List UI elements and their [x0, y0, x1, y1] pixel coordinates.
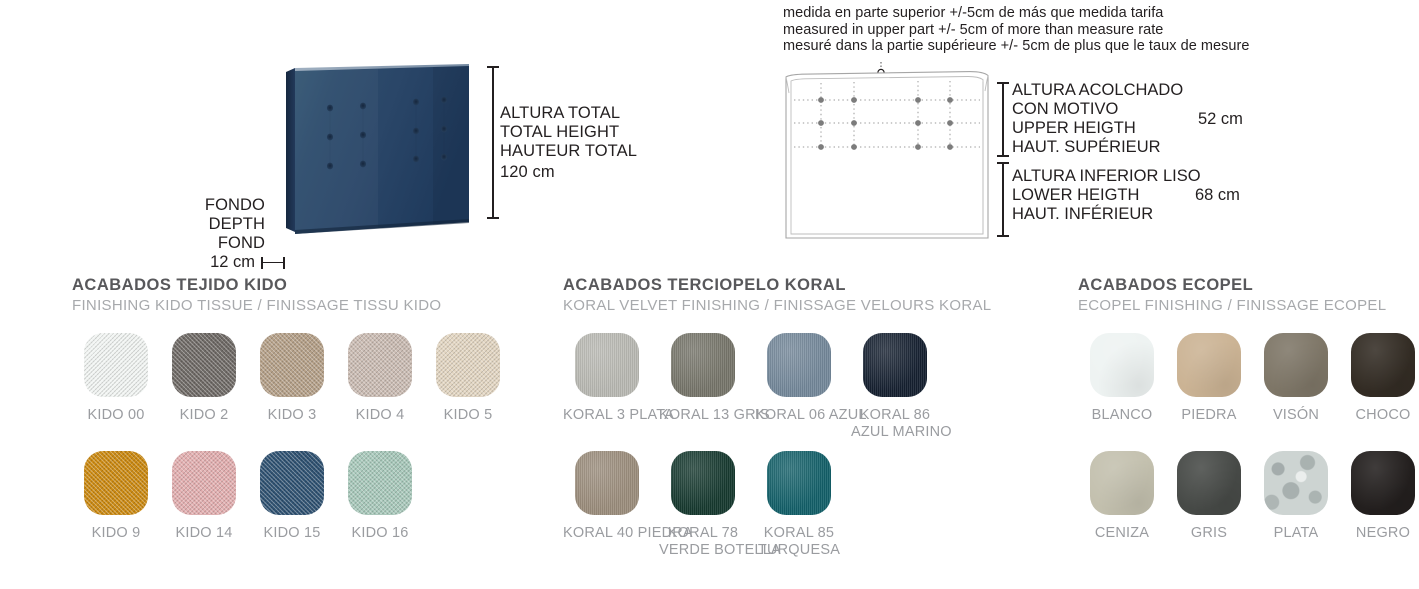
swatch-label: NEGRO: [1339, 525, 1419, 542]
swatch-label: GRIS: [1165, 525, 1253, 542]
finish-section-koral: ACABADOS TERCIOPELO KORALKORAL VELVET FI…: [563, 275, 1043, 553]
swatch-color-chip[interactable]: [671, 333, 735, 397]
swatch-color-chip[interactable]: [1090, 451, 1154, 515]
swatch-item[interactable]: GRIS: [1165, 451, 1253, 542]
swatch-item[interactable]: KIDO 00: [72, 333, 160, 424]
measurement-note-en: measured in upper part +/- 5cm of more t…: [783, 22, 1250, 39]
swatch-color-chip[interactable]: [348, 451, 412, 515]
depth-value-row: 12 cm: [170, 253, 285, 272]
finish-section-ecopel: ACABADOS ECOPELECOPEL FINISHING / FINISS…: [1078, 275, 1418, 553]
swatch-color-chip[interactable]: [1264, 451, 1328, 515]
swatch-row: KORAL 3 PLATAKORAL 13 GRISKORAL 06 AZULK…: [563, 333, 1043, 435]
swatch-item[interactable]: NEGRO: [1339, 451, 1419, 542]
swatch-label: BLANCO: [1078, 407, 1166, 424]
swatch-item[interactable]: KORAL 13 GRIS: [659, 333, 747, 424]
total-height-dimension-line: [487, 66, 499, 219]
swatch-item[interactable]: KORAL 40 PIEDRA: [563, 451, 651, 542]
upper-height-value: 52 cm: [1198, 110, 1243, 129]
swatch-item[interactable]: KORAL 06 AZUL: [755, 333, 843, 424]
swatch-texture-overlay: [436, 333, 500, 397]
swatch-item[interactable]: KIDO 16: [336, 451, 424, 542]
lower-height-label-es: ALTURA INFERIOR LISO: [1012, 167, 1201, 186]
swatch-item[interactable]: CHOCO: [1339, 333, 1419, 424]
headboard-photo: [283, 62, 473, 240]
swatch-label: KORAL 78VERDE BOTELLA: [659, 525, 747, 558]
measurement-note-fr: mesuré dans la partie supérieure +/- 5cm…: [783, 38, 1250, 55]
total-height-label-en: TOTAL HEIGHT: [500, 123, 637, 142]
swatch-label: KIDO 4: [336, 407, 424, 424]
lower-height-label: ALTURA INFERIOR LISO LOWER HEIGTH HAUT. …: [1012, 167, 1201, 224]
swatch-texture-overlay: [1090, 451, 1154, 515]
upper-height-label-en: UPPER HEIGTH: [1012, 119, 1183, 138]
swatch-texture-overlay: [260, 333, 324, 397]
headboard-photo-diagram: ALTURA TOTAL TOTAL HEIGHT HAUTEUR TOTAL …: [0, 0, 700, 270]
swatch-item[interactable]: KIDO 9: [72, 451, 160, 542]
swatch-row: KIDO 00KIDO 2KIDO 3KIDO 4KIDO 5: [72, 333, 542, 435]
depth-label-fr: FOND: [170, 234, 265, 253]
swatch-texture-overlay: [1264, 333, 1328, 397]
swatch-label: VISÓN: [1252, 407, 1340, 424]
section-title: ACABADOS ECOPEL: [1078, 275, 1418, 295]
swatch-color-chip[interactable]: [1177, 451, 1241, 515]
swatch-item[interactable]: KIDO 5: [424, 333, 512, 424]
swatch-texture-overlay: [863, 333, 927, 397]
swatch-color-chip[interactable]: [172, 451, 236, 515]
swatch-item[interactable]: KORAL 86AZUL MARINO: [851, 333, 939, 440]
swatch-label: KORAL 40 PIEDRA: [563, 525, 651, 542]
swatch-color-chip[interactable]: [671, 451, 735, 515]
swatch-texture-overlay: [767, 451, 831, 515]
swatch-label: PLATA: [1252, 525, 1340, 542]
upper-height-label-es2: CON MOTIVO: [1012, 100, 1183, 119]
swatch-color-chip[interactable]: [84, 451, 148, 515]
section-subtitle: FINISHING KIDO TISSUE / FINISSAGE TISSU …: [72, 296, 542, 315]
swatch-texture-overlay: [1351, 451, 1415, 515]
swatch-texture-overlay: [671, 451, 735, 515]
swatch-item[interactable]: PLATA: [1252, 451, 1340, 542]
swatch-texture-overlay: [84, 451, 148, 515]
depth-label: FONDO DEPTH FOND: [170, 196, 265, 253]
swatch-row: KIDO 9KIDO 14KIDO 15KIDO 16: [72, 451, 542, 553]
swatch-label: KIDO 15: [248, 525, 336, 542]
swatch-color-chip[interactable]: [1264, 333, 1328, 397]
measurement-note: medida en parte superior +/-5cm de más q…: [783, 5, 1250, 55]
depth-label-en: DEPTH: [170, 215, 265, 234]
swatch-color-chip[interactable]: [348, 333, 412, 397]
swatch-texture-overlay: [172, 451, 236, 515]
swatch-texture-overlay: [1351, 333, 1415, 397]
swatch-label: KIDO 5: [424, 407, 512, 424]
swatch-row: KORAL 40 PIEDRAKORAL 78VERDE BOTELLAKORA…: [563, 451, 1043, 553]
swatch-texture-overlay: [575, 451, 639, 515]
swatch-color-chip[interactable]: [1090, 333, 1154, 397]
swatch-label-line2: TURQUESA: [755, 542, 843, 559]
measurement-note-es: medida en parte superior +/-5cm de más q…: [783, 5, 1250, 22]
swatch-label: CHOCO: [1339, 407, 1419, 424]
swatch-item[interactable]: BLANCO: [1078, 333, 1166, 424]
swatch-item[interactable]: KIDO 14: [160, 451, 248, 542]
swatch-item[interactable]: KORAL 3 PLATA: [563, 333, 651, 424]
total-height-label-es: ALTURA TOTAL: [500, 104, 637, 123]
swatch-item[interactable]: KIDO 2: [160, 333, 248, 424]
total-height-label-fr: HAUTEUR TOTAL: [500, 142, 637, 161]
swatch-label: CENIZA: [1078, 525, 1166, 542]
swatch-row: BLANCOPIEDRAVISÓNCHOCO: [1078, 333, 1418, 435]
section-subtitle: KORAL VELVET FINISHING / FINISSAGE VELOU…: [563, 296, 1043, 315]
swatch-label-line2: AZUL MARINO: [851, 424, 939, 441]
swatch-label: KIDO 3: [248, 407, 336, 424]
swatch-label: KORAL 85TURQUESA: [755, 525, 843, 558]
swatch-label: KIDO 00: [72, 407, 160, 424]
swatch-texture-overlay: [1177, 451, 1241, 515]
headboard-illustration: [283, 62, 473, 240]
depth-value: 12 cm: [210, 253, 255, 272]
swatch-item[interactable]: PIEDRA: [1165, 333, 1253, 424]
swatch-texture-overlay: [1264, 451, 1328, 515]
swatch-item[interactable]: CENIZA: [1078, 451, 1166, 542]
swatch-color-chip[interactable]: [260, 333, 324, 397]
swatch-item[interactable]: KORAL 85TURQUESA: [755, 451, 843, 558]
swatch-row: CENIZAGRISPLATANEGRO: [1078, 451, 1418, 553]
swatch-texture-overlay: [172, 333, 236, 397]
swatch-texture-overlay: [84, 333, 148, 397]
lower-height-value: 68 cm: [1195, 186, 1240, 205]
swatch-color-chip[interactable]: [1177, 333, 1241, 397]
section-subtitle: ECOPEL FINISHING / FINISSAGE ECOPEL: [1078, 296, 1418, 315]
depth-dimension-line: [261, 257, 285, 269]
swatch-label: PIEDRA: [1165, 407, 1253, 424]
swatch-label: KIDO 9: [72, 525, 160, 542]
finish-section-kido: ACABADOS TEJIDO KIDOFINISHING KIDO TISSU…: [72, 275, 542, 553]
swatch-color-chip[interactable]: [575, 451, 639, 515]
swatch-texture-overlay: [348, 333, 412, 397]
lower-height-label-en: LOWER HEIGTH: [1012, 186, 1201, 205]
swatch-texture-overlay: [671, 333, 735, 397]
swatch-label: KIDO 16: [336, 525, 424, 542]
swatch-color-chip[interactable]: [575, 333, 639, 397]
swatch-item[interactable]: KORAL 78VERDE BOTELLA: [659, 451, 747, 558]
swatch-label-line2: VERDE BOTELLA: [659, 542, 747, 559]
finishes-sections: ACABADOS TEJIDO KIDOFINISHING KIDO TISSU…: [0, 275, 1419, 589]
swatch-label: KORAL 06 AZUL: [755, 407, 843, 424]
swatch-label: KORAL 86AZUL MARINO: [851, 407, 939, 440]
lower-height-dimension-line: [997, 162, 1009, 237]
headboard-outline-svg: [780, 60, 1015, 240]
swatch-color-chip[interactable]: [84, 333, 148, 397]
swatch-item[interactable]: KIDO 15: [248, 451, 336, 542]
swatch-texture-overlay: [260, 451, 324, 515]
technical-drawing-diagram: medida en parte superior +/-5cm de más q…: [700, 0, 1419, 270]
swatch-color-chip[interactable]: [436, 333, 500, 397]
swatch-texture-overlay: [575, 333, 639, 397]
swatch-label: KIDO 2: [160, 407, 248, 424]
swatch-color-chip[interactable]: [767, 333, 831, 397]
swatch-color-chip[interactable]: [863, 333, 927, 397]
section-title: ACABADOS TERCIOPELO KORAL: [563, 275, 1043, 295]
swatch-label: KORAL 3 PLATA: [563, 407, 651, 424]
swatch-color-chip[interactable]: [172, 333, 236, 397]
product-spec-sheet: ALTURA TOTAL TOTAL HEIGHT HAUTEUR TOTAL …: [0, 0, 1419, 589]
swatch-item[interactable]: KIDO 4: [336, 333, 424, 424]
upper-height-label: ALTURA ACOLCHADO CON MOTIVO UPPER HEIGTH…: [1012, 81, 1183, 157]
upper-height-label-fr: HAUT. SUPÉRIEUR: [1012, 138, 1183, 157]
swatch-label: KIDO 14: [160, 525, 248, 542]
depth-label-es: FONDO: [170, 196, 265, 215]
swatch-texture-overlay: [1090, 333, 1154, 397]
swatch-item[interactable]: VISÓN: [1252, 333, 1340, 424]
upper-height-dimension-line: [997, 82, 1009, 157]
swatch-texture-overlay: [1177, 333, 1241, 397]
upper-height-label-es1: ALTURA ACOLCHADO: [1012, 81, 1183, 100]
swatch-color-chip[interactable]: [1351, 333, 1415, 397]
swatch-texture-overlay: [348, 451, 412, 515]
swatch-label: KORAL 13 GRIS: [659, 407, 747, 424]
swatch-texture-overlay: [767, 333, 831, 397]
total-height-value: 120 cm: [500, 163, 637, 182]
swatch-color-chip[interactable]: [260, 451, 324, 515]
section-title: ACABADOS TEJIDO KIDO: [72, 275, 542, 295]
swatch-color-chip[interactable]: [1351, 451, 1415, 515]
lower-height-label-fr: HAUT. INFÉRIEUR: [1012, 205, 1201, 224]
swatch-item[interactable]: KIDO 3: [248, 333, 336, 424]
swatch-color-chip[interactable]: [767, 451, 831, 515]
total-height-label: ALTURA TOTAL TOTAL HEIGHT HAUTEUR TOTAL …: [500, 104, 637, 182]
headboard-technical-outline: [780, 60, 1015, 240]
